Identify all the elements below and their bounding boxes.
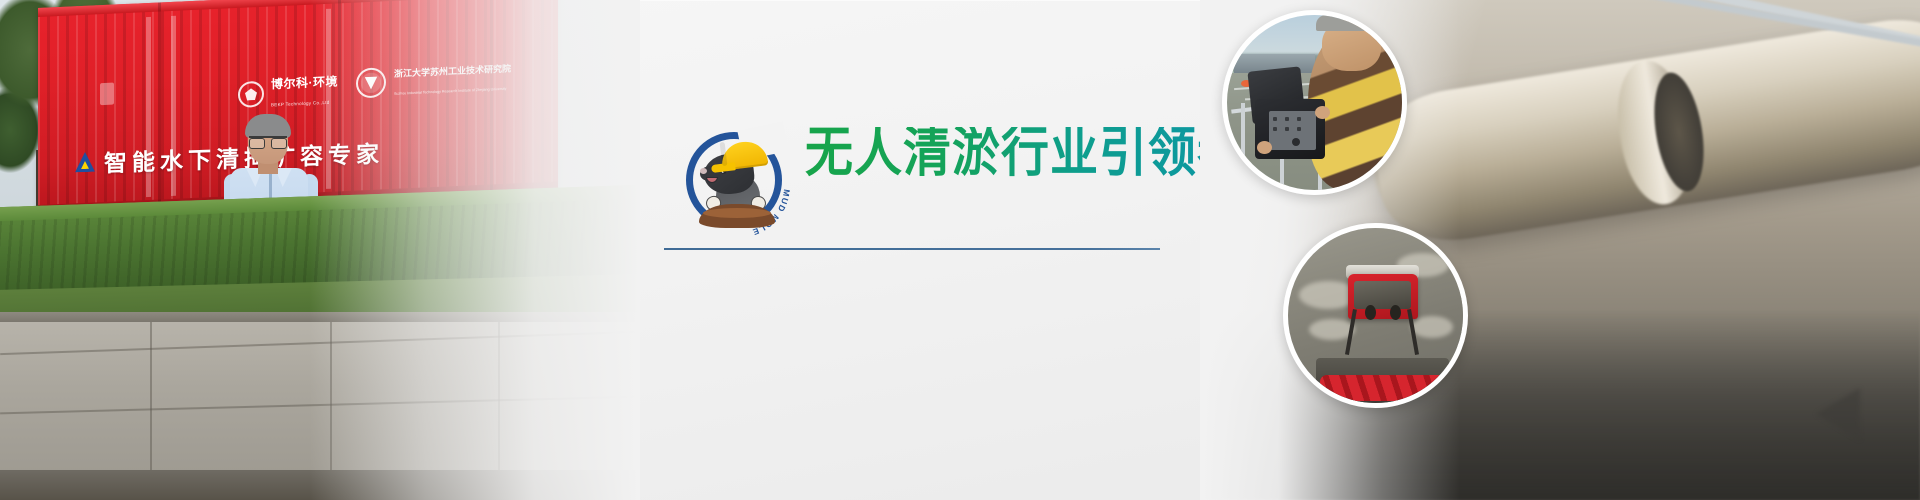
headline-text: 无人清淤行业引领者 xyxy=(805,127,1246,181)
triangle-badge-icon xyxy=(75,152,95,173)
console-button[interactable] xyxy=(1297,117,1301,121)
hard-hat-icon xyxy=(720,139,769,170)
auger-cutter-head xyxy=(1320,375,1446,401)
dirt-mound xyxy=(699,204,775,228)
mole-nose xyxy=(700,168,707,174)
robot-wheel xyxy=(1390,305,1401,320)
bekp-logo-icon xyxy=(238,81,264,108)
container-vent xyxy=(100,83,114,106)
console-button[interactable] xyxy=(1297,127,1301,131)
dredging-robot-circle-photo xyxy=(1283,223,1468,408)
left-photo-fade xyxy=(310,0,640,500)
sludge-foam xyxy=(1411,316,1453,339)
center-branding-block: MUD MOLE 无人清淤行业引领者 xyxy=(660,0,1200,500)
left-container-photo: 博尔科·环境 BEKP Technology Co.,Ltd 浙江大学苏州工业技… xyxy=(0,0,640,500)
dredging-scene xyxy=(1288,228,1463,403)
hair xyxy=(245,114,291,138)
console-joystick[interactable] xyxy=(1292,138,1300,146)
operator-console-circle-photo xyxy=(1222,10,1407,195)
console-button[interactable] xyxy=(1285,117,1289,121)
headline-divider xyxy=(664,248,1160,250)
robot-wheel xyxy=(1365,305,1376,320)
operator-left-hand xyxy=(1257,141,1272,154)
guardrail-post xyxy=(1241,103,1245,191)
mole-mascot-icon xyxy=(700,140,774,222)
robot-engine-bay xyxy=(1354,281,1411,309)
operator-right-hand xyxy=(1315,106,1330,119)
console-button[interactable] xyxy=(1285,127,1289,131)
mud-mole-logo: MUD MOLE xyxy=(682,128,794,232)
glasses-icon xyxy=(249,136,287,145)
arrow-shape-icon xyxy=(1816,388,1860,440)
operator-cap xyxy=(1316,15,1386,31)
console-button[interactable] xyxy=(1273,117,1277,121)
container-seam xyxy=(158,2,161,210)
console-button[interactable] xyxy=(1273,127,1277,131)
right-photo-group xyxy=(1200,0,1920,500)
operator-scene xyxy=(1227,15,1402,190)
hero-banner: 博尔科·环境 BEKP Technology Co.,Ltd 浙江大学苏州工业技… xyxy=(0,0,1920,500)
